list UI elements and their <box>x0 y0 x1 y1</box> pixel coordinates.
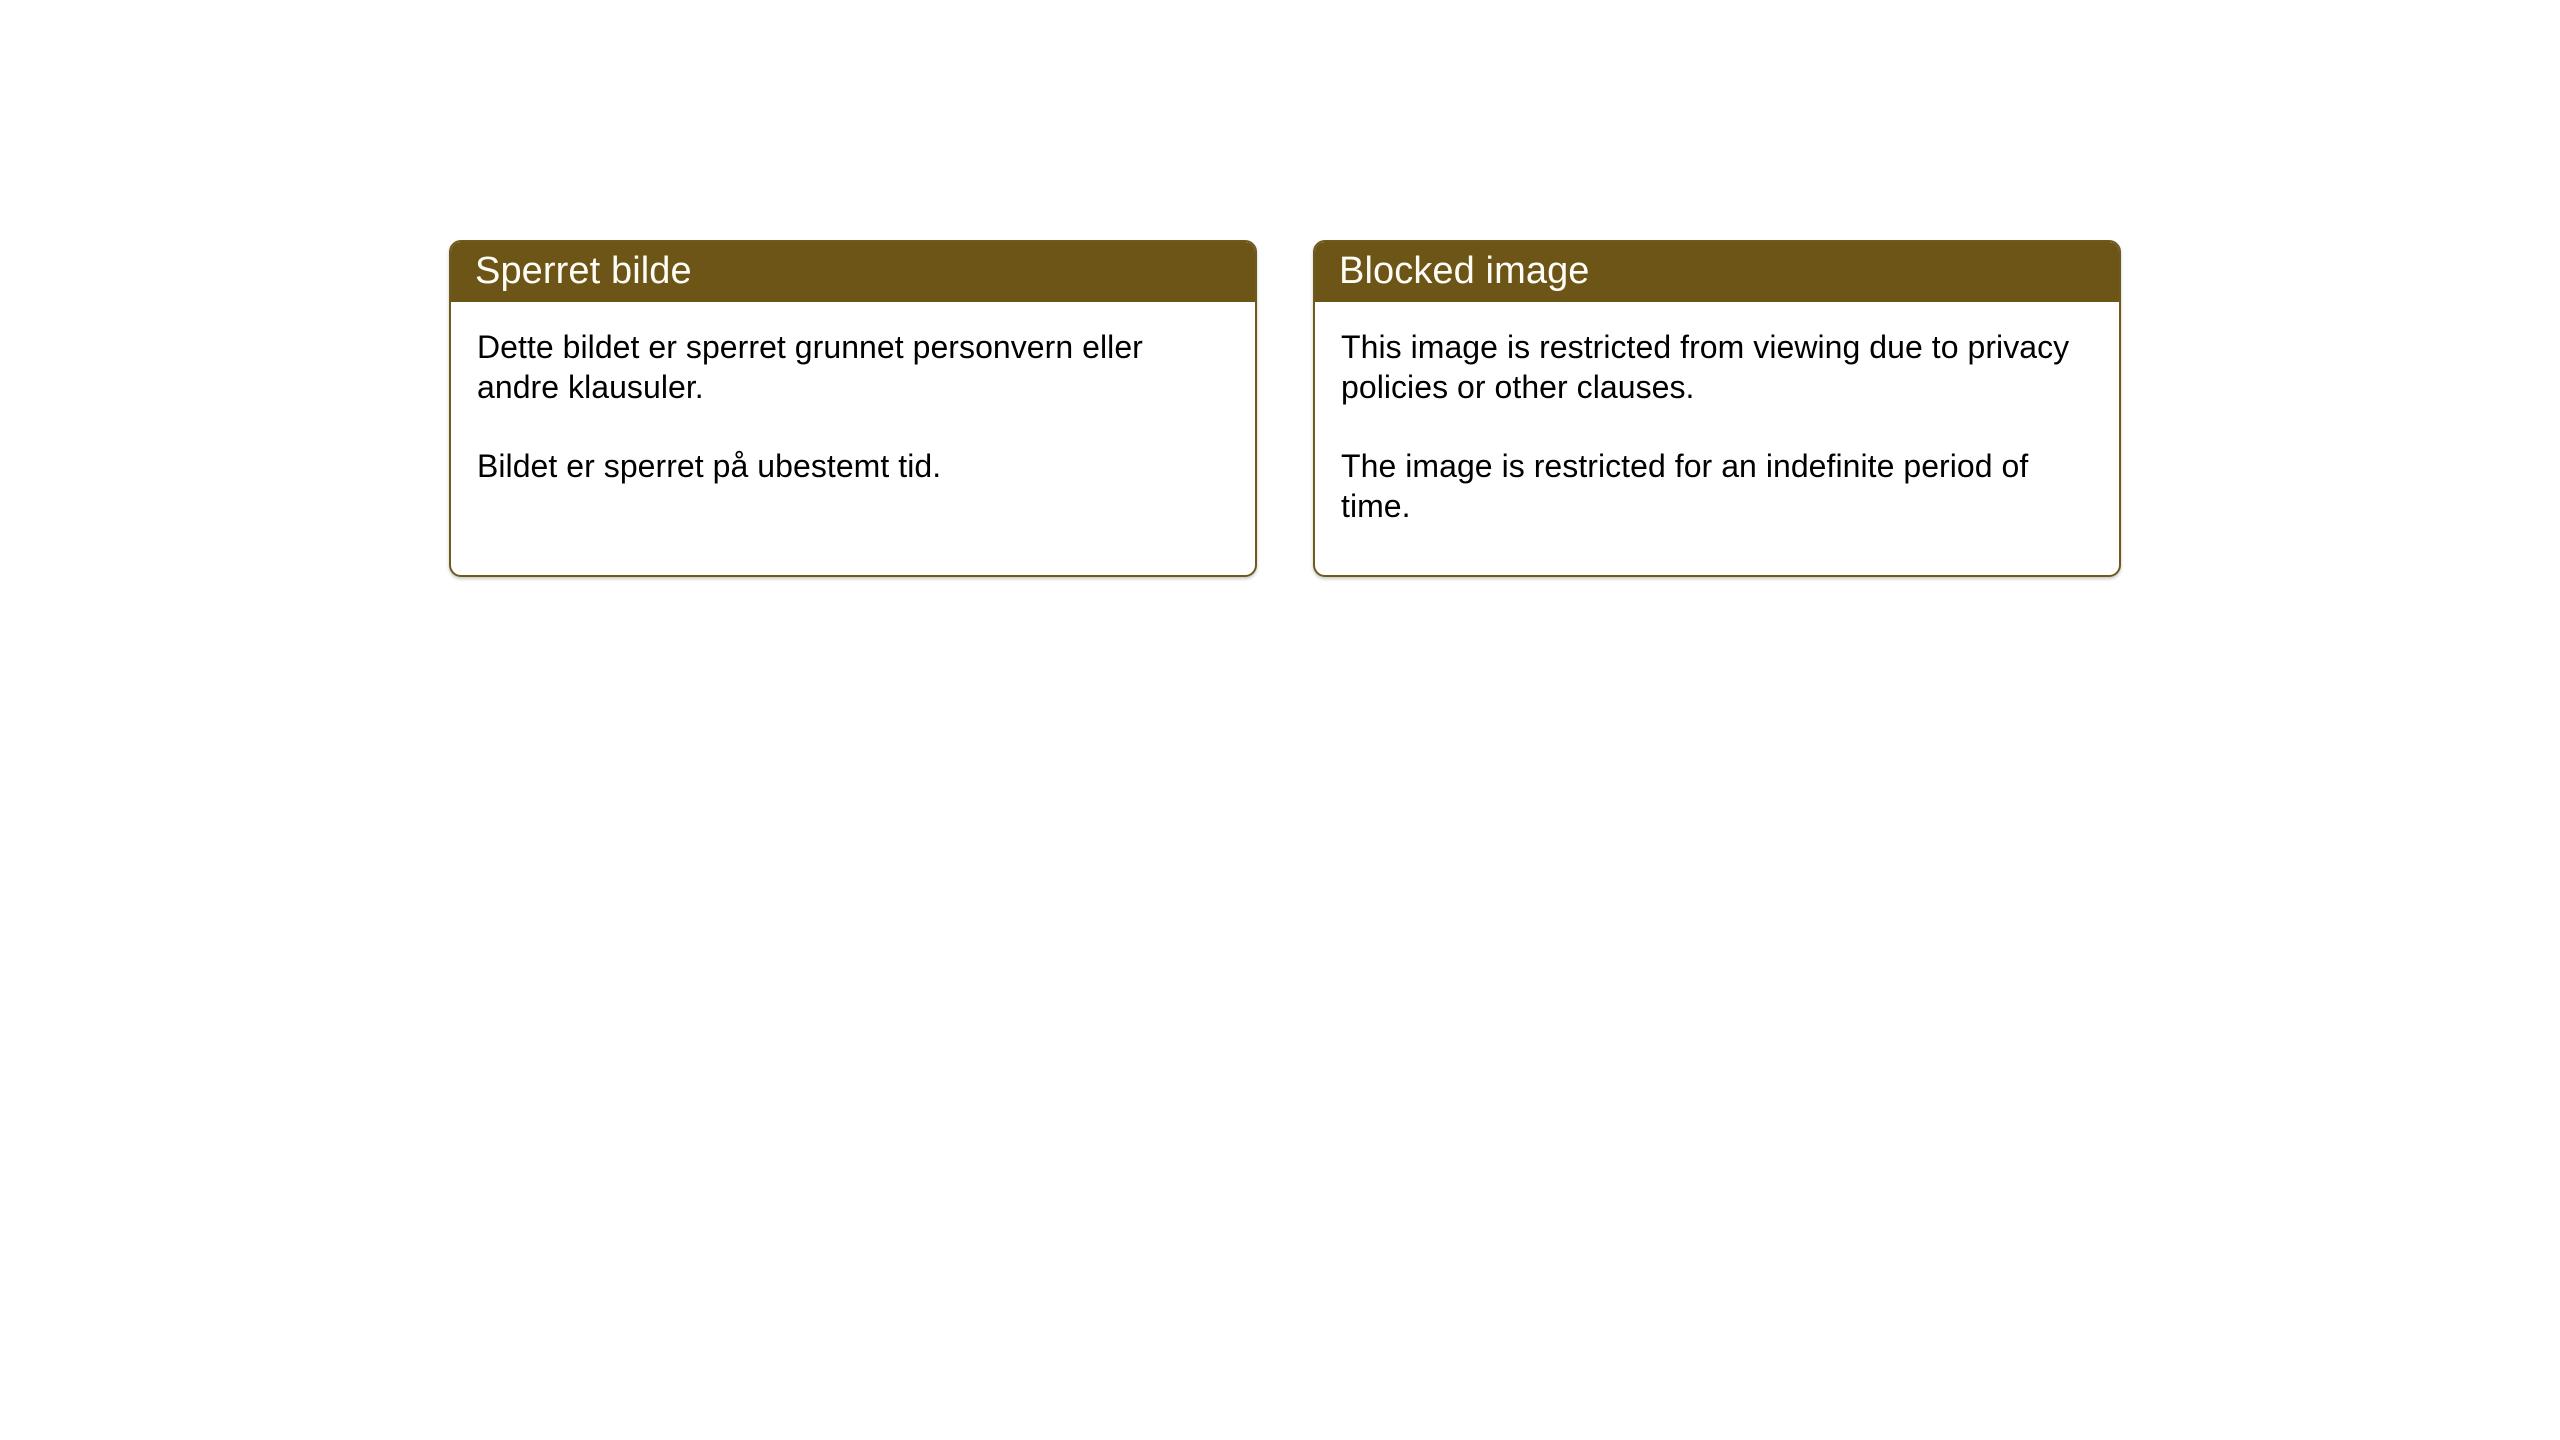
blocked-image-notice-card-en: Blocked image This image is restricted f… <box>1313 240 2121 577</box>
notice-title-en: Blocked image <box>1339 252 1590 290</box>
notice-paragraph-duration-nb: Bildet er sperret på ubestemt tid. <box>477 447 1217 487</box>
blocked-image-notice-card-nb: Sperret bilde Dette bildet er sperret gr… <box>449 240 1257 577</box>
notice-title-nb: Sperret bilde <box>475 252 692 290</box>
notice-paragraph-duration-en: The image is restricted for an indefinit… <box>1341 447 2081 526</box>
notice-paragraph-reason-nb: Dette bildet er sperret grunnet personve… <box>477 328 1217 407</box>
notice-header-en: Blocked image <box>1313 240 2121 302</box>
notice-paragraph-reason-en: This image is restricted from viewing du… <box>1341 328 2081 407</box>
notice-canvas: Sperret bilde Dette bildet er sperret gr… <box>0 0 2560 1440</box>
notice-body-nb: Dette bildet er sperret grunnet personve… <box>451 302 1255 575</box>
notice-body-en: This image is restricted from viewing du… <box>1315 302 2119 575</box>
notice-header-nb: Sperret bilde <box>449 240 1257 302</box>
